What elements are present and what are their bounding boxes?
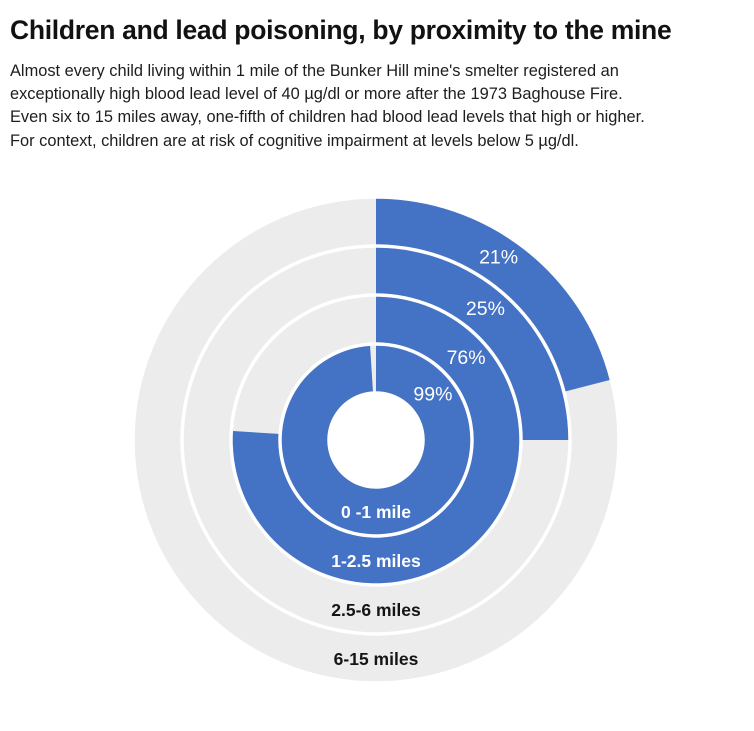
chart-header: Children and lead poisoning, by proximit…	[0, 0, 754, 153]
radial-chart-svg: 21% 25% 76% 99% 0 -1 mile 1-2.5 miles 2.…	[0, 185, 754, 731]
category-label-2_5-6-miles: 2.5-6 miles	[331, 600, 421, 620]
subtitle-line-3: Even six to 15 miles away, one-fifth of …	[10, 106, 740, 129]
subtitle-line-4: For context, children are at risk of cog…	[10, 130, 740, 153]
category-label-0-1-mile: 0 -1 mile	[341, 502, 411, 522]
percent-label-6-15-miles: 21%	[479, 246, 518, 268]
chart-page: Children and lead poisoning, by proximit…	[0, 0, 754, 731]
percent-label-0-1-mile: 99%	[413, 384, 452, 406]
chart-subtitle: Almost every child living within 1 mile …	[10, 60, 740, 153]
page-title: Children and lead poisoning, by proximit…	[10, 16, 740, 46]
category-label-1-2_5-miles: 1-2.5 miles	[331, 551, 421, 571]
subtitle-line-2: exceptionally high blood lead level of 4…	[10, 83, 740, 106]
percent-label-1-2_5-miles: 76%	[447, 347, 486, 369]
category-label-6-15-miles: 6-15 miles	[334, 649, 419, 669]
percent-label-2_5-6-miles: 25%	[466, 298, 505, 320]
subtitle-line-1: Almost every child living within 1 mile …	[10, 60, 740, 83]
radial-chart: 21% 25% 76% 99% 0 -1 mile 1-2.5 miles 2.…	[0, 185, 754, 731]
